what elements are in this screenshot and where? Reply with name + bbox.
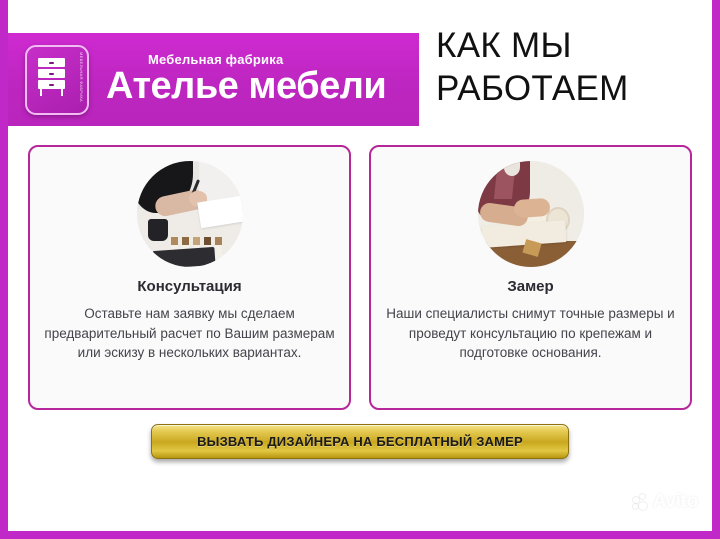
page-title-line-1: КАК МЫ <box>436 24 629 67</box>
avito-watermark-text: Avito <box>653 491 698 513</box>
logo-banner: МЕБЕЛЬНАЯ ФАБРИКА Мебельная фабрика Ател… <box>8 33 419 126</box>
consultation-photo <box>137 161 243 267</box>
avito-watermark: Avito <box>633 491 698 513</box>
logo-badge-vertical-text: МЕБЕЛЬНАЯ ФАБРИКА <box>74 52 83 108</box>
call-designer-button[interactable]: ВЫЗВАТЬ ДИЗАЙНЕРА НА БЕСПЛАТНЫЙ ЗАМЕР <box>151 424 569 459</box>
logo-badge: МЕБЕЛЬНАЯ ФАБРИКА <box>25 45 89 115</box>
step-card-consultation[interactable]: Консультация Оставьте нам заявку мы сдел… <box>28 145 351 410</box>
poster-frame: МЕБЕЛЬНАЯ ФАБРИКА Мебельная фабрика Ател… <box>0 0 720 539</box>
logo-wordmark: Мебельная фабрика Ателье мебели <box>106 52 386 108</box>
step-card-text: Оставьте нам заявку мы сделаем предварит… <box>42 304 337 363</box>
step-card-title: Консультация <box>137 278 241 295</box>
logo-title: Ателье мебели <box>106 64 386 108</box>
dresser-icon <box>38 58 65 96</box>
poster-canvas: МЕБЕЛЬНАЯ ФАБРИКА Мебельная фабрика Ател… <box>8 0 712 531</box>
cta-container: ВЫЗВАТЬ ДИЗАЙНЕРА НА БЕСПЛАТНЫЙ ЗАМЕР <box>8 424 712 459</box>
step-card-title: Замер <box>507 278 553 295</box>
page-title-line-2: РАБОТАЕМ <box>436 67 629 110</box>
steps-list: Консультация Оставьте нам заявку мы сдел… <box>8 145 712 410</box>
measurement-photo <box>478 161 584 267</box>
step-card-text: Наши специалисты снимут точные размеры и… <box>383 304 678 363</box>
page-title: КАК МЫ РАБОТАЕМ <box>436 24 629 110</box>
avito-logo-icon <box>633 494 650 511</box>
step-card-measurement[interactable]: Замер Наши специалисты снимут точные раз… <box>369 145 692 410</box>
header: МЕБЕЛЬНАЯ ФАБРИКА Мебельная фабрика Ател… <box>8 0 712 140</box>
